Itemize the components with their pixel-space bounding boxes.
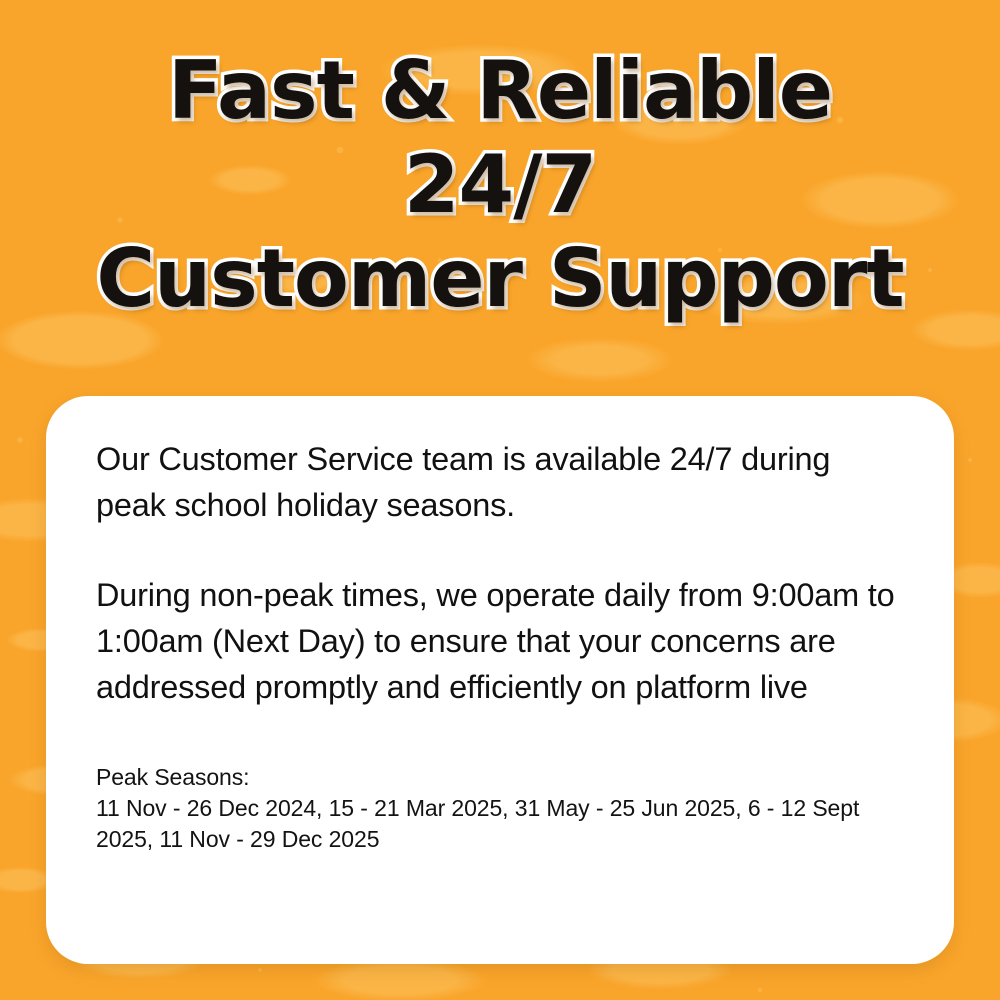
availability-paragraph: Our Customer Service team is available 2… bbox=[96, 436, 906, 528]
card-body: Our Customer Service team is available 2… bbox=[96, 436, 906, 710]
page-title: Fast & Reliable 24/7 Customer Support bbox=[0, 44, 1000, 326]
headline-line-1: Fast & Reliable bbox=[0, 44, 1000, 138]
paragraph-spacer bbox=[96, 528, 906, 572]
operating-hours-paragraph: During non-peak times, we operate daily … bbox=[96, 572, 906, 710]
peak-seasons-label: Peak Seasons: bbox=[96, 762, 906, 793]
peak-seasons-dates: 11 Nov - 26 Dec 2024, 15 - 21 Mar 2025, … bbox=[96, 793, 906, 855]
headline-line-3: Customer Support bbox=[0, 232, 1000, 326]
headline-line-2: 24/7 bbox=[0, 138, 1000, 232]
peak-seasons-block: Peak Seasons: 11 Nov - 26 Dec 2024, 15 -… bbox=[96, 762, 906, 855]
promo-poster: Fast & Reliable 24/7 Customer Support Ou… bbox=[0, 0, 1000, 1000]
info-card: Our Customer Service team is available 2… bbox=[46, 396, 954, 964]
